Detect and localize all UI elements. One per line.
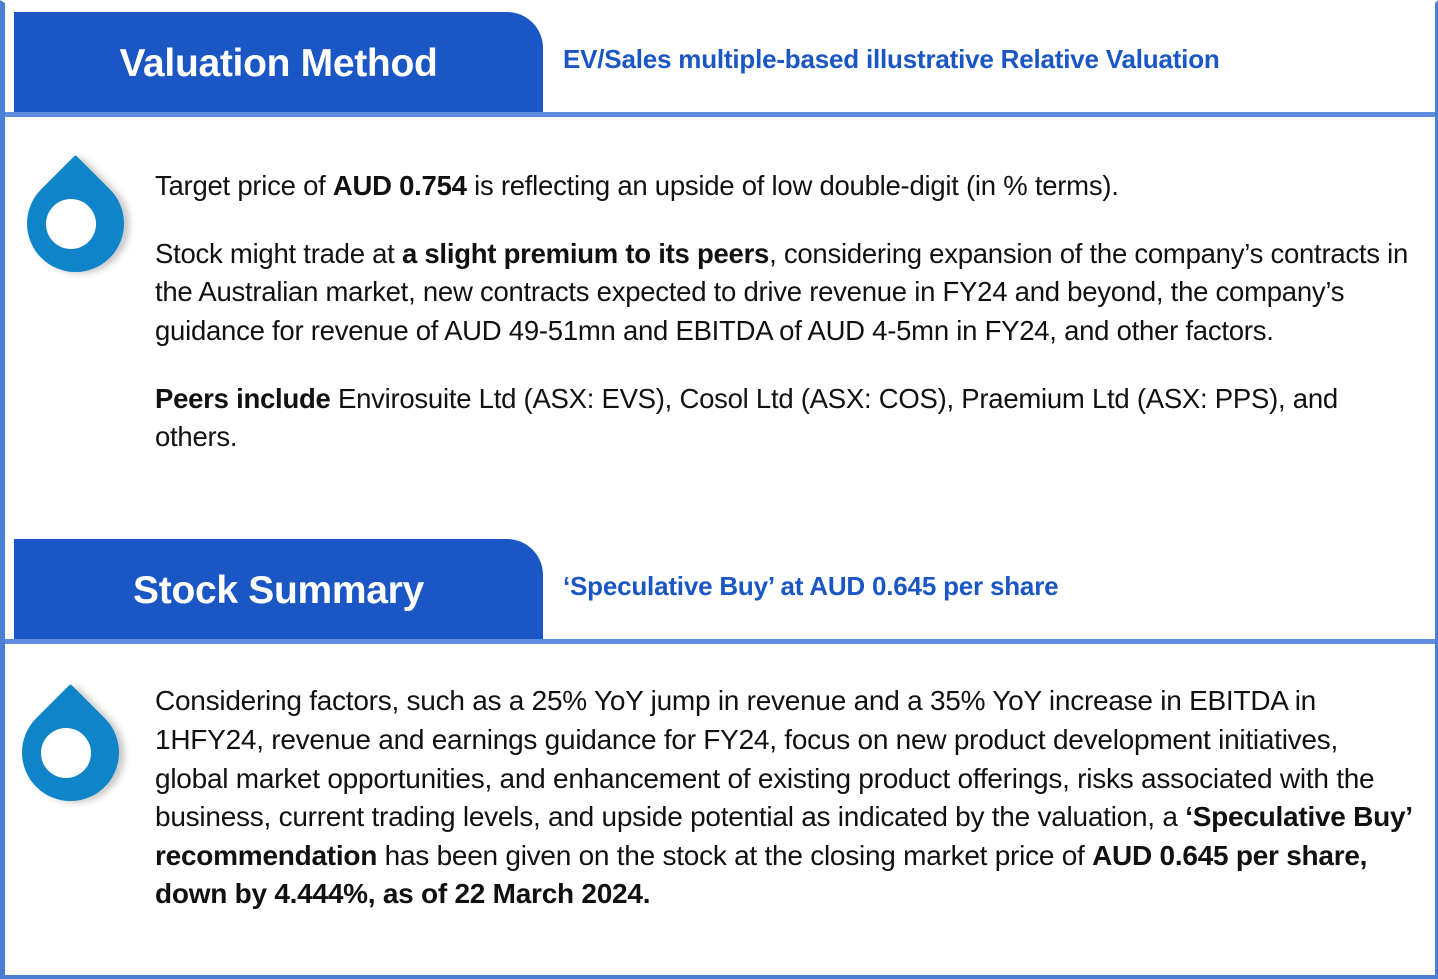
paragraph-peers-list: Peers include Envirosuite Ltd (ASX: EVS)…	[155, 380, 1411, 456]
stock-summary-tab: Stock Summary	[14, 539, 543, 642]
map-pin-ring-icon-hole	[41, 728, 91, 778]
paragraph-target-price: Target price of AUD 0.754 is reflecting …	[155, 167, 1411, 205]
valuation-bullet-col	[5, 167, 155, 283]
valuation-method-tab: Valuation Method	[14, 12, 543, 115]
stock-summary-header: Stock Summary ‘Speculative Buy’ at AUD 0…	[5, 530, 1435, 642]
paragraph-recommendation-rationale: Considering factors, such as a 25% YoY j…	[155, 682, 1415, 914]
report-card: Valuation Method EV/Sales multiple-based…	[0, 0, 1438, 979]
stock-summary-subtitle: ‘Speculative Buy’ at AUD 0.645 per share	[563, 530, 1435, 642]
valuation-method-body: Target price of AUD 0.754 is reflecting …	[5, 115, 1435, 456]
valuation-method-header: Valuation Method EV/Sales multiple-based…	[5, 3, 1435, 115]
map-pin-ring-icon-hole	[46, 199, 96, 249]
valuation-method-tab-label: Valuation Method	[119, 44, 437, 83]
map-pin-ring-icon	[21, 175, 139, 283]
section-spacer	[5, 456, 1435, 530]
valuation-method-text: Target price of AUD 0.754 is reflecting …	[155, 167, 1421, 456]
paragraph-premium-to-peers: Stock might trade at a slight premium to…	[155, 235, 1411, 350]
summary-bullet-col	[5, 682, 145, 812]
map-pin-ring-icon	[16, 704, 134, 812]
valuation-method-subtitle: EV/Sales multiple-based illustrative Rel…	[563, 3, 1435, 115]
stock-summary-text: Considering factors, such as a 25% YoY j…	[155, 682, 1421, 914]
stock-summary-tab-label: Stock Summary	[133, 571, 424, 610]
stock-summary-body: Considering factors, such as a 25% YoY j…	[5, 642, 1435, 914]
